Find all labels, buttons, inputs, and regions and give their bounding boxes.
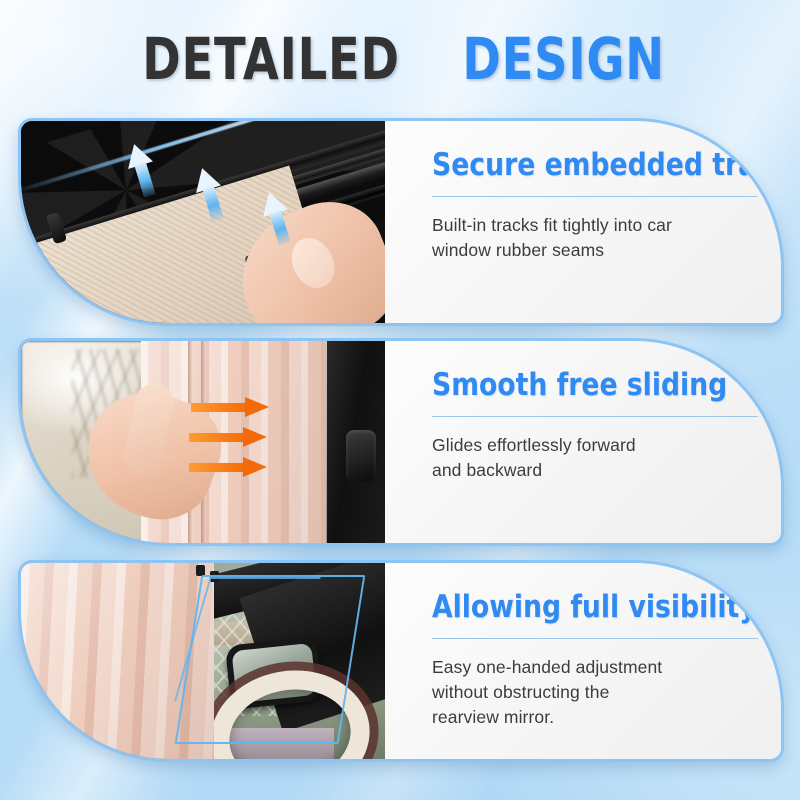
- feature-heading: Secure embedded track: [432, 149, 784, 182]
- page-title: DETAILED DESIGN: [0, 28, 800, 90]
- page-title-accent: DESIGN: [462, 28, 665, 90]
- feature-text-column: Secure embedded track Built-in tracks fi…: [385, 121, 784, 323]
- feature-heading: Allowing full visibility: [432, 591, 757, 624]
- feature-description: Glides effortlessly forward and backward: [432, 433, 732, 483]
- right-arrow-icon: [191, 397, 269, 417]
- feature-panel-allowing-full-visibility: Allowing full visibility Easy one-handed…: [18, 560, 784, 762]
- feature-description: Easy one-handed adjustment without obstr…: [432, 655, 732, 730]
- feature-description: Built-in tracks fit tightly into car win…: [432, 213, 732, 263]
- feature-text-column: Allowing full visibility Easy one-handed…: [385, 563, 784, 759]
- page-title-primary: DETAILED: [142, 28, 400, 90]
- feature-photo-full-visibility: [21, 563, 385, 759]
- feature-panel-secure-embedded-track: Secure embedded track Built-in tracks fi…: [18, 118, 784, 326]
- feature-panel-smooth-free-sliding: Smooth free sliding Glides effortlessly …: [18, 338, 784, 546]
- feature-heading: Smooth free sliding: [432, 369, 732, 402]
- heading-divider: [432, 416, 758, 417]
- right-arrow-icon: [189, 457, 267, 477]
- feature-photo-sliding-curtain: [21, 341, 385, 543]
- heading-divider: [432, 196, 758, 197]
- right-arrow-icon: [189, 427, 267, 447]
- door-handle: [346, 430, 376, 482]
- heading-divider: [432, 638, 758, 639]
- feature-photo-embedded-track: [21, 121, 385, 323]
- feature-text-column: Smooth free sliding Glides effortlessly …: [385, 341, 781, 543]
